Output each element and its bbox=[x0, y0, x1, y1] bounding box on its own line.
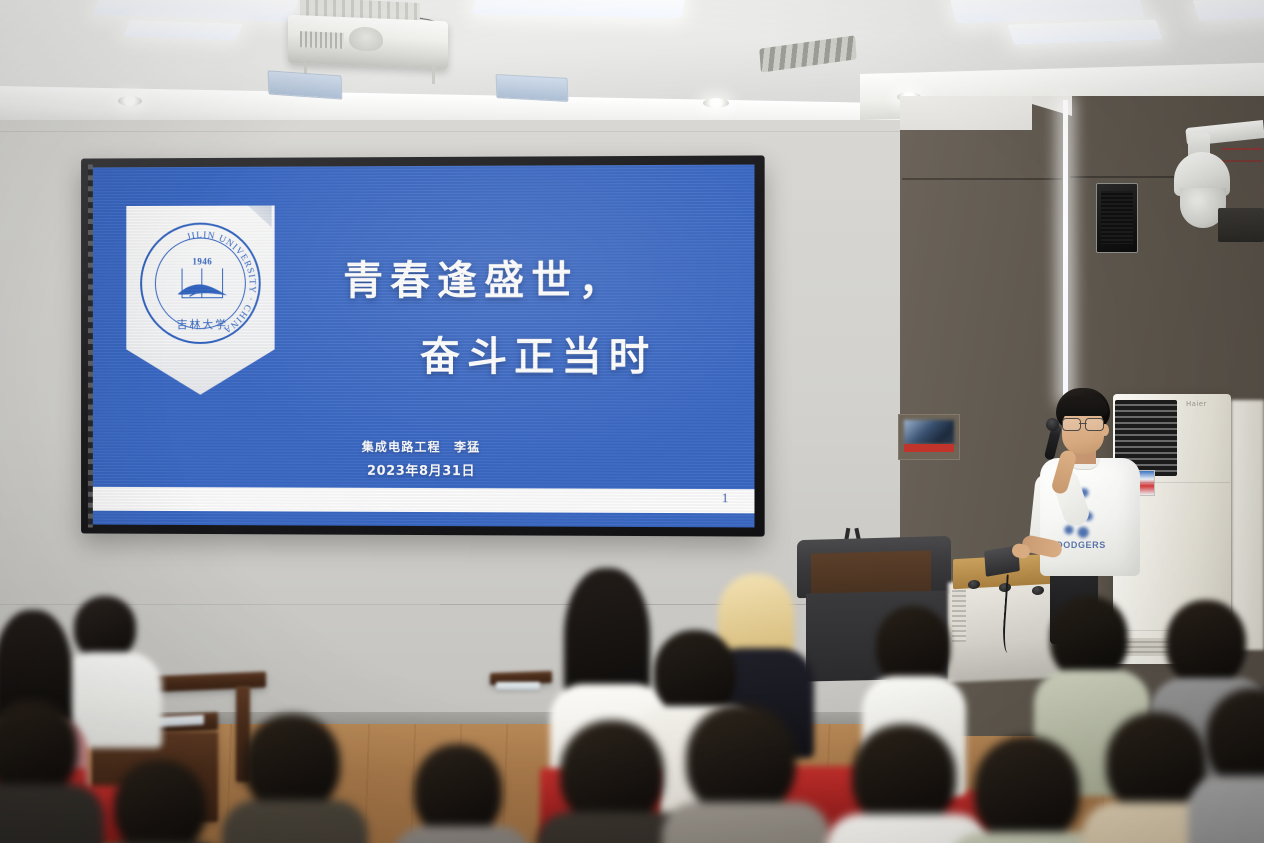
slide-bottom-band bbox=[93, 511, 755, 528]
lecture-hall-scene: JILIN UNIVERSITY · CHINA 1946 吉林大学 青春逢盛世… bbox=[0, 0, 1264, 843]
wood-wall-seam bbox=[902, 178, 1062, 180]
audience-body bbox=[1188, 776, 1264, 843]
audience-body bbox=[0, 784, 104, 843]
seal-chinese-name: 吉林大学 bbox=[142, 316, 263, 332]
audience-head bbox=[244, 714, 340, 812]
audience-head bbox=[1050, 596, 1128, 680]
desk-book-mid bbox=[496, 682, 540, 690]
panel-light-6 bbox=[1193, 0, 1264, 20]
projector-vent bbox=[300, 31, 344, 49]
projector-leg-right bbox=[432, 66, 435, 84]
projector-lens bbox=[349, 26, 383, 51]
audience-head bbox=[974, 736, 1080, 843]
slide-page-number: 1 bbox=[712, 490, 738, 506]
presenter-hair-fringe bbox=[1058, 396, 1108, 416]
audience-head bbox=[852, 724, 956, 828]
slide-surface: JILIN UNIVERSITY · CHINA 1946 吉林大学 青春逢盛世… bbox=[93, 165, 755, 528]
audience-head bbox=[876, 606, 950, 686]
audience-head bbox=[74, 596, 136, 660]
audience-head bbox=[1166, 600, 1246, 686]
downlight-left bbox=[118, 96, 142, 106]
slide-subtitle-department-presenter: 集成电路工程 李猛 bbox=[93, 437, 755, 456]
audience-body bbox=[392, 826, 532, 843]
slide-title-line-2: 奋斗正当时 bbox=[420, 324, 656, 382]
slide-subtitle-date: 2023年8月31日 bbox=[93, 459, 755, 480]
wall-speaker bbox=[1096, 183, 1138, 253]
dark-wall-notch bbox=[900, 96, 1032, 130]
university-seal-emblem: 1946 bbox=[172, 254, 233, 316]
audience-body bbox=[662, 802, 830, 843]
slide-footer-band bbox=[93, 487, 755, 513]
seal-bird-shape bbox=[176, 280, 229, 300]
camera-junction-box bbox=[1218, 208, 1264, 242]
audience-head bbox=[414, 744, 502, 838]
presenter-glasses bbox=[1062, 418, 1104, 429]
audience-head bbox=[114, 760, 206, 843]
ceiling-air-vent-left bbox=[268, 70, 343, 99]
air-conditioner-brand-label: Haier bbox=[1186, 400, 1228, 434]
poster-red-band bbox=[904, 444, 954, 452]
console-vent bbox=[952, 590, 966, 642]
university-seal-outer-ring: JILIN UNIVERSITY · CHINA 1946 吉林大学 bbox=[140, 222, 261, 344]
downlight-mid bbox=[703, 98, 729, 108]
vertical-led-light-strip bbox=[1063, 100, 1068, 400]
seal-year-label: 1946 bbox=[172, 256, 233, 266]
audience-body bbox=[222, 800, 368, 843]
audience-head bbox=[654, 630, 736, 716]
wood-wall-seam-2 bbox=[1070, 176, 1186, 178]
audience-head bbox=[686, 704, 796, 816]
audience-head bbox=[0, 700, 78, 796]
slide-title-line-1: 青春逢盛世， bbox=[343, 248, 626, 307]
ceiling-air-vent-right bbox=[496, 74, 569, 102]
audience-head bbox=[560, 720, 664, 826]
wall-seam-1 bbox=[0, 131, 900, 132]
led-display-screen[interactable]: JILIN UNIVERSITY · CHINA 1946 吉林大学 青春逢盛世… bbox=[81, 155, 765, 536]
poster-image bbox=[904, 420, 954, 444]
